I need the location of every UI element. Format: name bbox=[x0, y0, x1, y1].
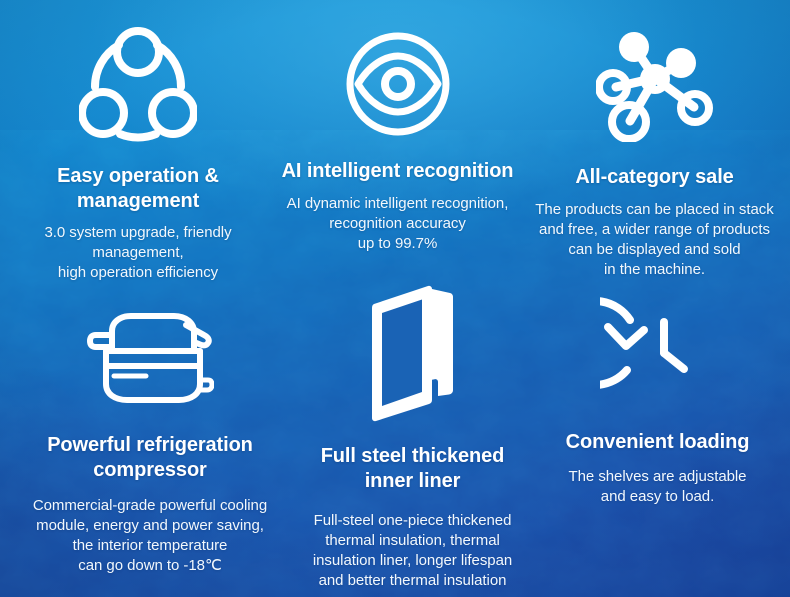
feature-description: The products can be placed in stack and … bbox=[532, 200, 778, 280]
cabinet-liner-icon bbox=[370, 282, 456, 422]
feature-card-refrigeration-compressor: Powerful refrigeration compressor Commer… bbox=[0, 272, 300, 597]
feature-card-ai-recognition: AI intelligent recognition AI dynamic in… bbox=[276, 0, 519, 285]
eye-in-circle-icon bbox=[344, 30, 452, 138]
molecule-network-icon bbox=[596, 24, 714, 142]
feature-title: All-category sale bbox=[525, 165, 785, 190]
feature-title: Powerful refrigeration compressor bbox=[10, 433, 290, 483]
feature-title: Easy operation & management bbox=[13, 164, 263, 214]
feature-card-all-category-sale: All-category sale The products can be pl… bbox=[519, 0, 790, 285]
clock-history-icon bbox=[600, 294, 716, 402]
compressor-icon bbox=[86, 304, 214, 410]
feature-description: AI dynamic intelligent recognition, reco… bbox=[279, 194, 517, 254]
feature-description: Commercial-grade powerful cooling module… bbox=[5, 496, 295, 576]
feature-description: The shelves are adjustable and easy to l… bbox=[543, 467, 773, 507]
feature-grid: Easy operation & management 3.0 system u… bbox=[0, 0, 790, 597]
share-network-icon bbox=[79, 24, 197, 142]
feature-row-top: Easy operation & management 3.0 system u… bbox=[0, 0, 790, 285]
feature-card-easy-operation: Easy operation & management 3.0 system u… bbox=[0, 0, 276, 285]
feature-title: Convenient loading bbox=[528, 430, 788, 455]
feature-row-bottom: Powerful refrigeration compressor Commer… bbox=[0, 272, 790, 597]
feature-card-steel-inner-liner: Full steel thickened inner liner Full-st… bbox=[300, 272, 525, 597]
feature-title: Full steel thickened inner liner bbox=[300, 444, 525, 494]
feature-title: AI intelligent recognition bbox=[276, 159, 519, 184]
feature-card-convenient-loading: Convenient loading The shelves are adjus… bbox=[525, 272, 790, 597]
feature-description: Full-steel one-piece thickened thermal i… bbox=[302, 511, 524, 591]
